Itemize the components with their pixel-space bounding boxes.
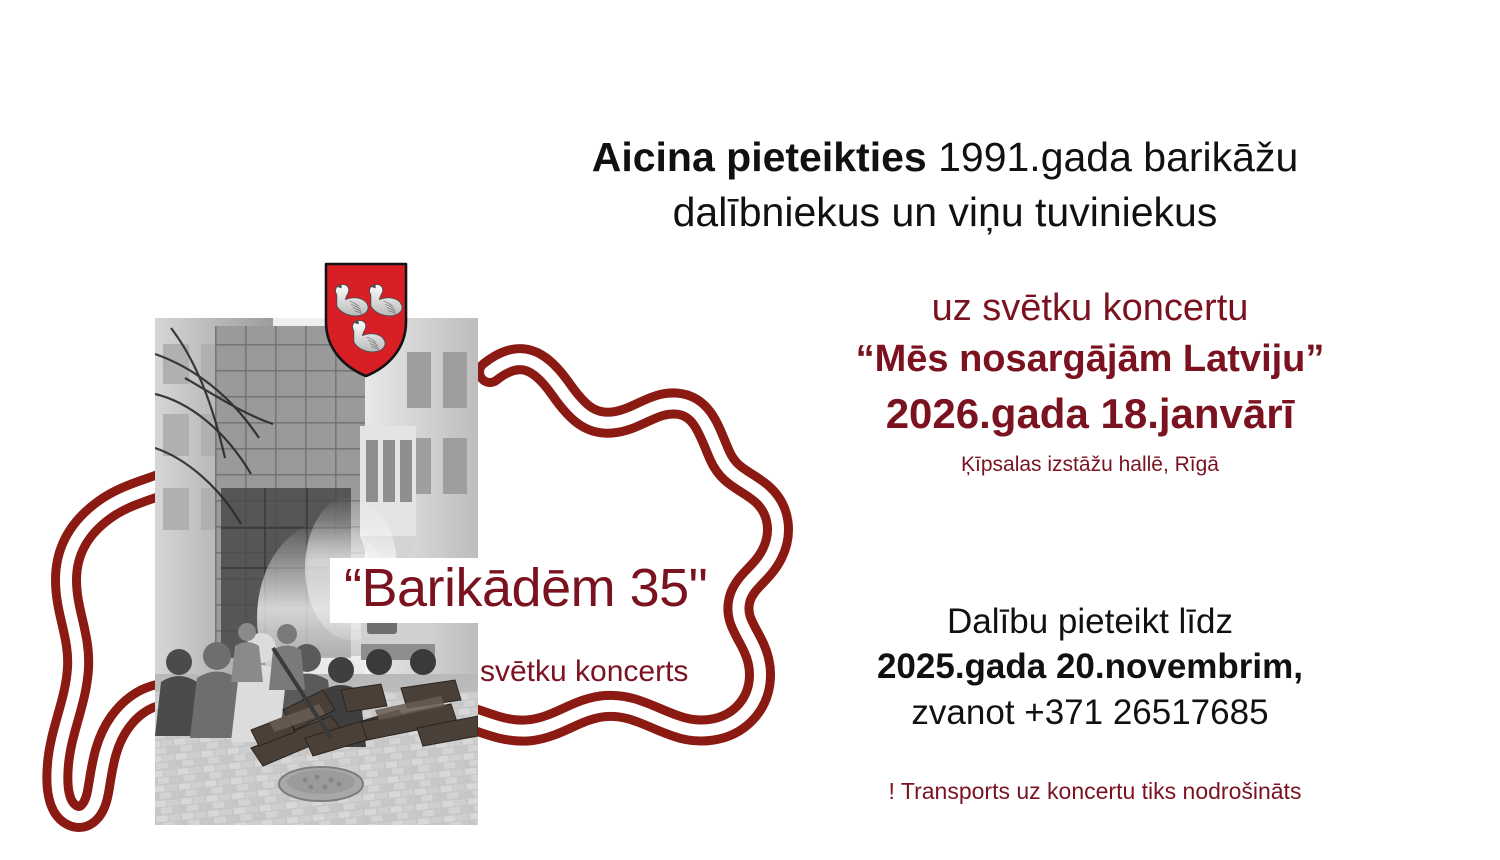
transport-note: ! Transports uz koncertu tiks nodrošināt… [750,778,1440,805]
event-details: uz svētku koncertu “Mēs nosargājām Latvi… [750,285,1430,478]
headline: Aicina pieteikties 1991.gada barikāžu da… [485,130,1405,240]
registration-intro: Dalību pieteikt līdz [750,600,1430,643]
headline-bold-lead: Aicina pieteikties [592,134,927,180]
registration-phone: zvanot +371 26517685 [750,691,1430,735]
event-intro: uz svētku koncertu [750,285,1430,331]
coat-of-arms-three-swans-icon [320,260,412,380]
shield-field [326,264,406,376]
poster-root: “Barikādēm 35" svētku koncerts Aicina pi… [0,0,1500,860]
event-date: 2026.gada 18.janvārī [750,387,1430,441]
right-text-column: Aicina pieteikties 1991.gada barikāžu da… [440,0,1500,860]
event-venue: Ķīpsalas izstāžu hallē, Rīgā [750,451,1430,478]
headline-line2: dalībniekus un viņu tuviniekus [673,189,1218,235]
headline-rest: 1991.gada barikāžu [927,134,1299,180]
registration-deadline: 2025.gada 20.novembrim, [750,645,1430,689]
concert-title: “Mēs nosargājām Latviju” [750,335,1430,384]
registration-details: Dalību pieteikt līdz 2025.gada 20.novemb… [750,600,1430,736]
